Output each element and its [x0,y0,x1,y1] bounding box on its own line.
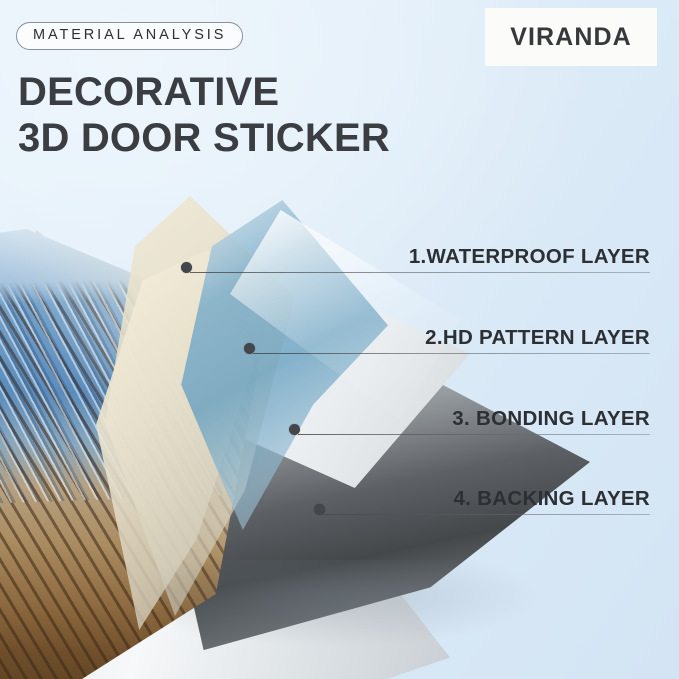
callout-2-leader-line [253,353,650,354]
callout-4-label: 4. BACKING LAYER [453,489,650,510]
callout-3-label: 3. BONDING LAYER [452,409,650,430]
page-title-line-1: DECORATIVE [18,70,279,114]
material-analysis-badge: MATERIAL ANALYSIS [16,22,243,50]
callout-2-label: 2.HD PATTERN LAYER [425,328,650,349]
brand-logo: VIRANDA [485,8,657,66]
callout-1-leader-line [190,272,650,273]
page-title-line-2: 3D DOOR STICKER [18,116,390,162]
callout-4-leader-line [323,514,650,515]
page-title: DECORATIVE 3D DOOR STICKER [18,70,390,161]
brand-logo-text: VIRANDA [510,23,632,52]
material-analysis-infographic: MATERIAL ANALYSIS DECORATIVE 3D DOOR STI… [0,0,679,679]
callout-3-leader-line [298,434,650,435]
drop-shadow [160,560,590,679]
callout-1-label: 1.WATERPROOF LAYER [409,247,650,268]
